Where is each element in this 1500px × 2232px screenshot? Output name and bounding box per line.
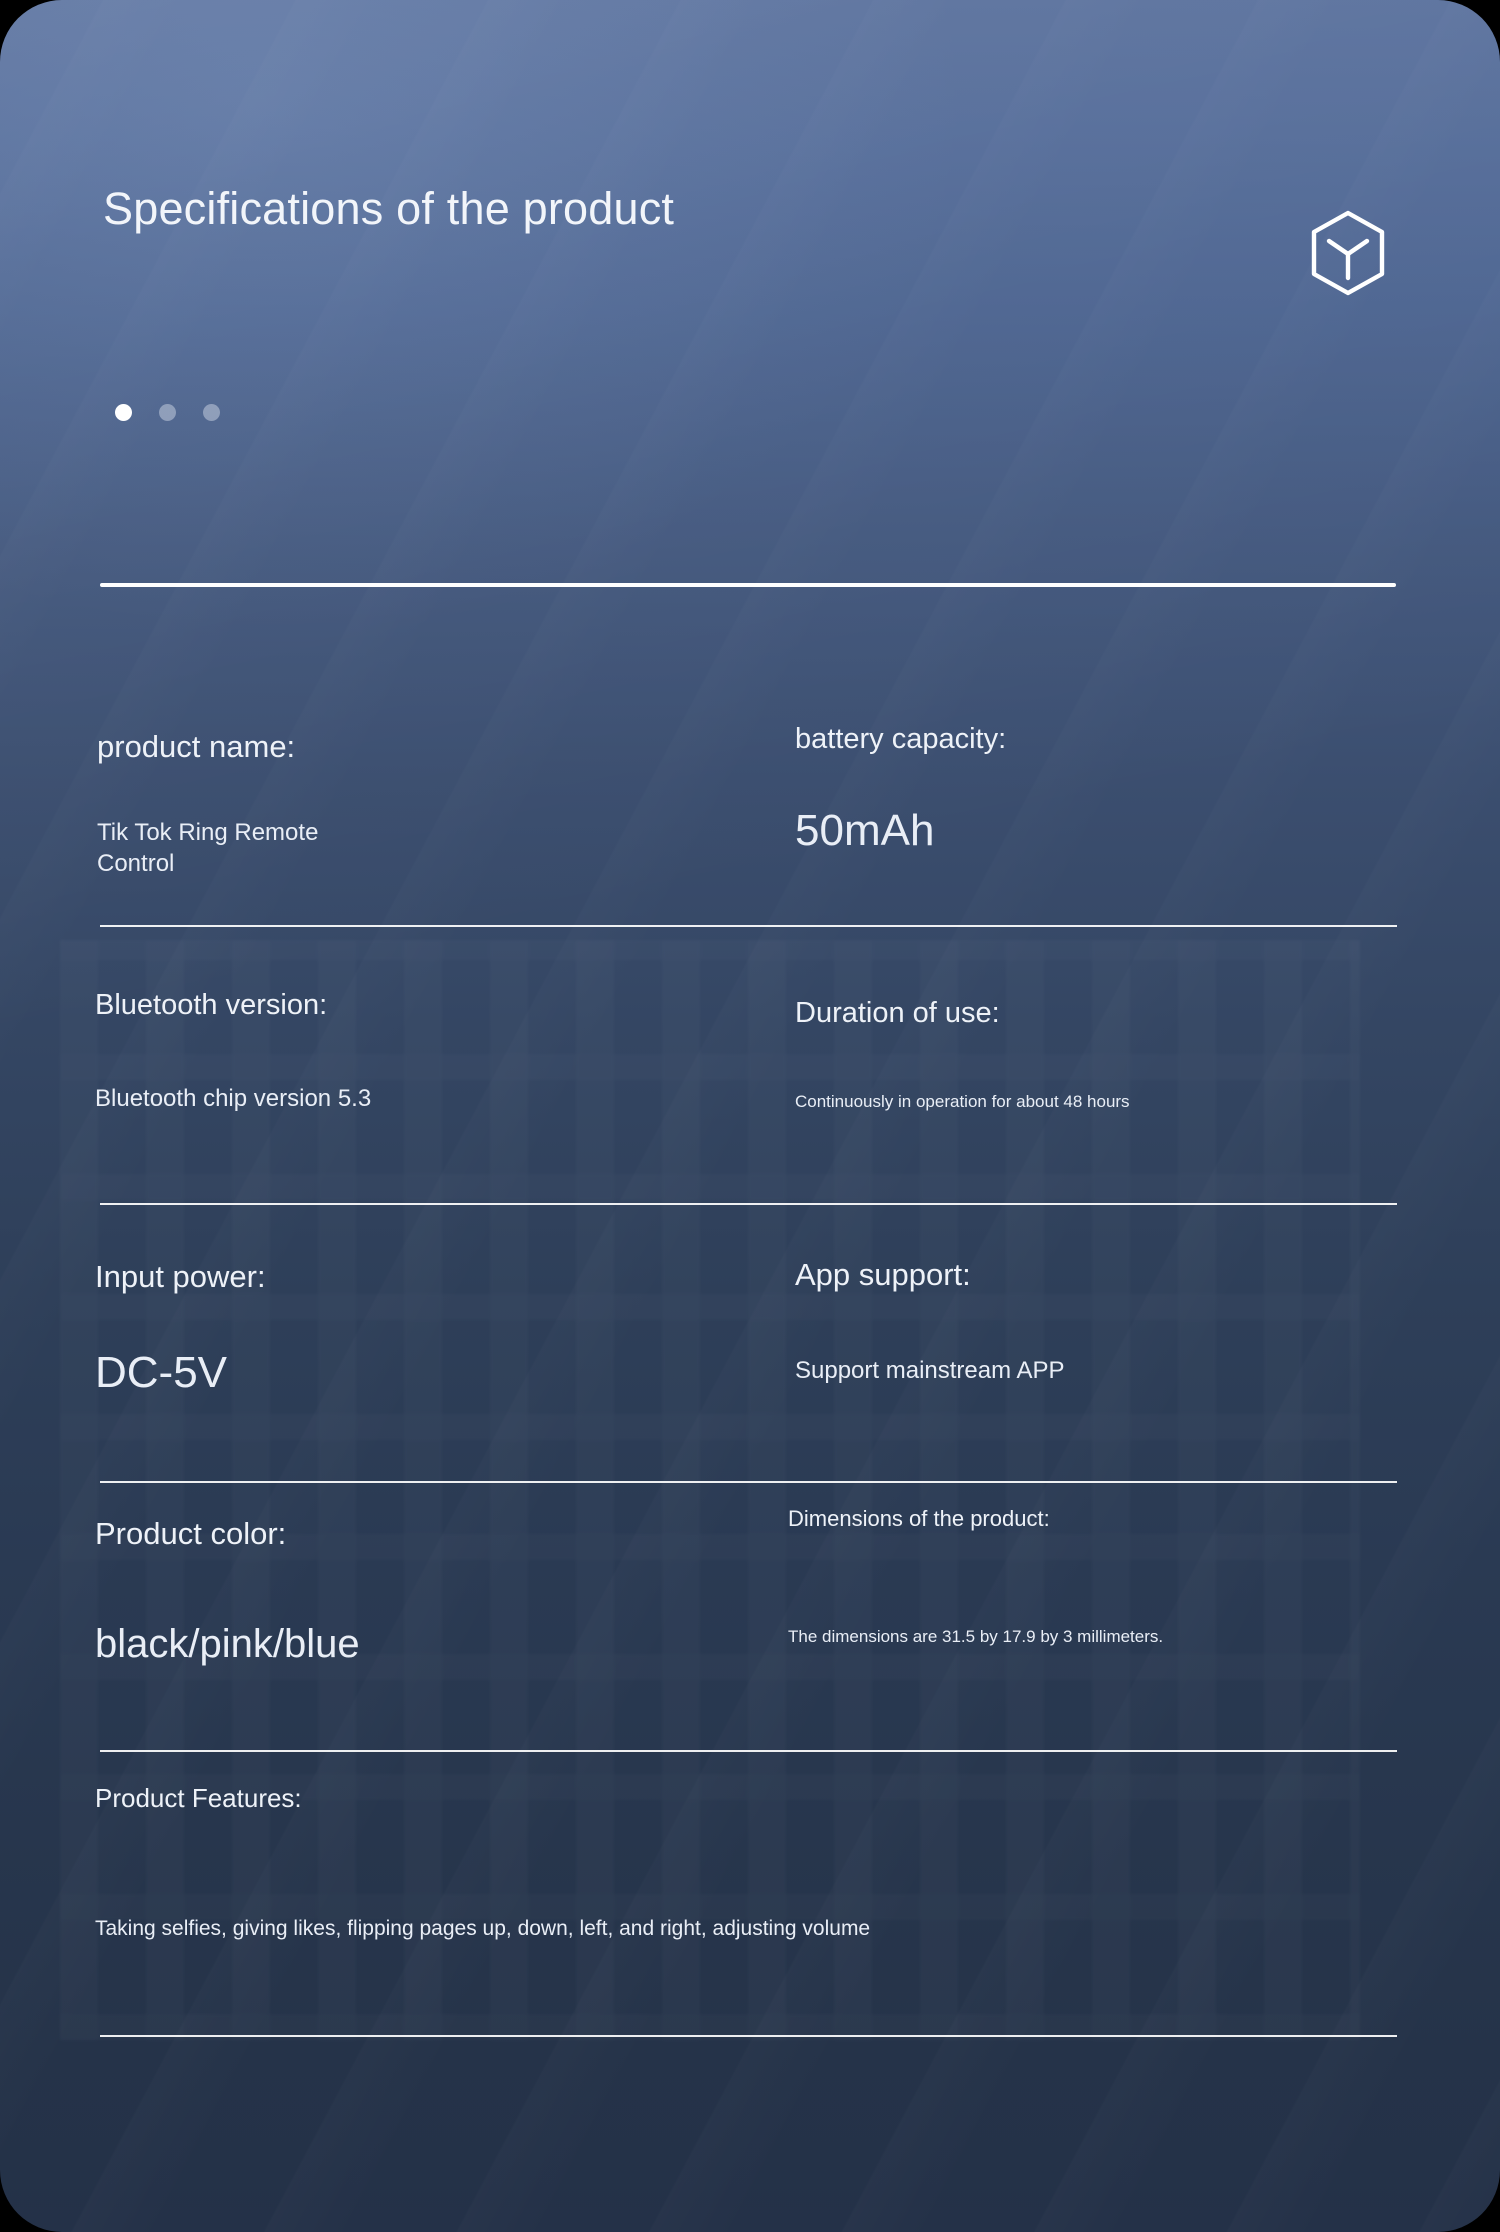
spec-value: Tik Tok Ring Remote Control	[97, 817, 397, 879]
spec-key: App support:	[795, 1256, 1395, 1293]
page-title: Specifications of the product	[103, 182, 743, 235]
spec-key: battery capacity:	[795, 722, 1395, 757]
spec-key: Dimensions of the product:	[788, 1506, 1408, 1532]
spec-value: Bluetooth chip version 5.3	[95, 1083, 715, 1114]
spec-cell-duration-of-use: Duration of use: Continuously in operati…	[795, 996, 1395, 1114]
spec-value: Taking selfies, giving likes, flipping p…	[95, 1915, 915, 1943]
spec-value: Continuously in operation for about 48 h…	[795, 1091, 1395, 1114]
hexagon-cube-icon	[1304, 208, 1392, 298]
spec-row-divider	[100, 1481, 1397, 1483]
product-spec-screen: Specifications of the product	[0, 0, 1500, 2232]
spec-value: DC-5V	[95, 1347, 715, 1400]
spec-value: black/pink/blue	[95, 1620, 715, 1668]
spec-value: Support mainstream APP	[795, 1355, 1395, 1386]
spec-cell-product-color: Product color: black/pink/blue	[95, 1515, 715, 1668]
pager-dot-2[interactable]	[159, 404, 176, 421]
pager-dot-3[interactable]	[203, 404, 220, 421]
spec-row-divider	[100, 1203, 1397, 1205]
spec-row-divider	[100, 2035, 1397, 2037]
spec-key: Bluetooth version:	[95, 988, 715, 1023]
spec-key: Input power:	[95, 1258, 715, 1295]
spec-key: product name:	[97, 728, 717, 765]
spec-cell-product-dimensions: Dimensions of the product: The dimension…	[788, 1506, 1408, 1649]
spec-cell-product-features: Product Features: Taking selfies, giving…	[95, 1783, 915, 1944]
spec-cell-bluetooth-version: Bluetooth version: Bluetooth chip versio…	[95, 988, 715, 1114]
pager-dots[interactable]	[115, 404, 220, 421]
spec-row-divider	[100, 1750, 1397, 1752]
pager-dot-1[interactable]	[115, 404, 132, 421]
spec-cell-app-support: App support: Support mainstream APP	[795, 1256, 1395, 1386]
spec-cell-battery-capacity: battery capacity: 50mAh	[795, 722, 1395, 858]
spec-key: Product Features:	[95, 1783, 915, 1814]
spec-cell-input-power: Input power: DC-5V	[95, 1258, 715, 1400]
panel-content: Specifications of the product	[0, 0, 1500, 2232]
header-divider	[100, 583, 1396, 587]
spec-row-divider	[100, 925, 1397, 927]
spec-key: Product color:	[95, 1515, 715, 1552]
spec-value: The dimensions are 31.5 by 17.9 by 3 mil…	[788, 1626, 1408, 1649]
spec-key: Duration of use:	[795, 996, 1395, 1031]
spec-value: 50mAh	[795, 805, 1395, 858]
spec-card-panel: Specifications of the product	[0, 0, 1500, 2232]
spec-cell-product-name: product name: Tik Tok Ring Remote Contro…	[97, 728, 717, 880]
